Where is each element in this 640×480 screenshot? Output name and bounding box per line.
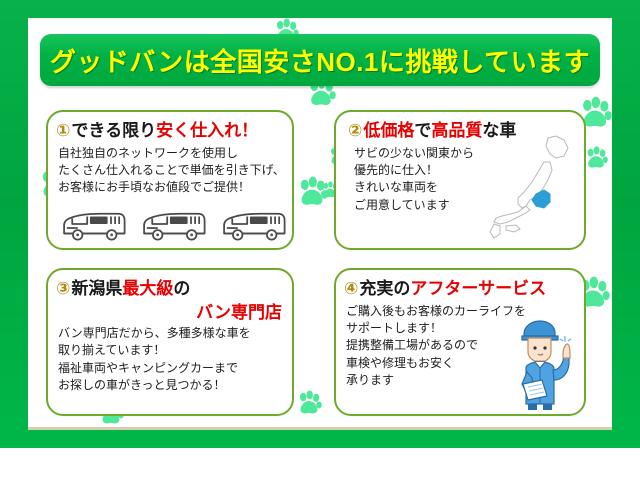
paw-print-icon (296, 176, 328, 208)
card-2-number: ② (348, 121, 362, 140)
van-icon (140, 210, 208, 242)
card-1-number: ① (56, 121, 70, 140)
card-3-body: バン専門店だから、多種多様な車を 取り揃えています！ 福祉車両やキャンピングカー… (48, 325, 292, 395)
paw-print-icon (296, 390, 322, 416)
card-1-heading-highlight: 安く仕入れ！ (156, 121, 258, 140)
card-1-heading: ①できる限り安く仕入れ！ (48, 121, 292, 141)
feature-card-2: ②低価格で高品質な車 サビの少ない関東から 優先的に仕入！ きれいな車両を ご用… (334, 110, 586, 250)
card-3-body-line: お探しの車がきっと見つかる！ (58, 377, 282, 394)
van-icon (220, 210, 288, 242)
promo-banner-image: グッドバンは全国安さNO.1に挑戦しています (0, 0, 640, 480)
card-3-heading-plain-after: の (173, 279, 190, 298)
content-area: グッドバンは全国安さNO.1に挑戦しています (28, 18, 612, 430)
card-3-body-line: 取り揃えています！ (58, 342, 282, 359)
card-4-heading-highlight: アフターサービス (410, 279, 546, 298)
card-3-body-line: バン専門店だから、多種多様な車を (58, 325, 282, 342)
feature-card-3: ③新潟県最大級の バン専門店 バン専門店だから、多種多様な車を 取り揃えています… (46, 268, 294, 416)
card-4-heading-plain: 充実の (359, 279, 410, 298)
green-frame: グッドバンは全国安さNO.1に挑戦しています (0, 0, 640, 448)
card-1-body: 自社独自のネットワークを使用し たくさん仕入れることで単価を引き下げ、 お客様に… (48, 145, 292, 197)
card-4-heading: ④充実のアフターサービス (336, 279, 584, 299)
card-2-heading-plain-mid: で (414, 121, 431, 140)
mechanic-staff-icon (504, 314, 576, 410)
van-illustration-row (60, 210, 288, 242)
card-1-body-line: 自社独自のネットワークを使用し (58, 145, 282, 162)
card-3-number: ③ (56, 279, 70, 298)
card-3-heading: ③新潟県最大級の (48, 279, 292, 299)
card-2-heading-highlight-1: 低価格 (363, 121, 414, 140)
headline-text: グッドバンは全国安さNO.1に挑戦しています (50, 42, 590, 79)
card-3-body-line: 福祉車両やキャンピングカーまで (58, 360, 282, 377)
card-3-heading-highlight: 最大級 (122, 279, 173, 298)
feature-card-1: ①できる限り安く仕入れ！ 自社独自のネットワークを使用し たくさん仕入れることで… (46, 110, 294, 250)
card-4-number: ④ (344, 279, 358, 298)
card-3-heading-plain-before: 新潟県 (71, 279, 122, 298)
paw-print-icon (584, 146, 608, 170)
headline-banner: グッドバンは全国安さNO.1に挑戦しています (40, 34, 600, 86)
feature-card-4: ④充実のアフターサービス ご購入後もお客様のカーライフを サポートします！ 提携… (334, 268, 586, 416)
card-1-body-line: たくさん仕入れることで単価を引き下げ、 (58, 162, 282, 179)
card-2-heading-highlight-2: 高品質 (431, 121, 482, 140)
van-icon (60, 210, 128, 242)
card-1-body-line: お客様にお手頃なお値段でご提供！ (58, 179, 282, 196)
card-1-heading-plain: できる限り (71, 121, 156, 140)
card-3-heading-line2: バン専門店 (48, 303, 292, 323)
japan-map-icon (488, 132, 580, 240)
